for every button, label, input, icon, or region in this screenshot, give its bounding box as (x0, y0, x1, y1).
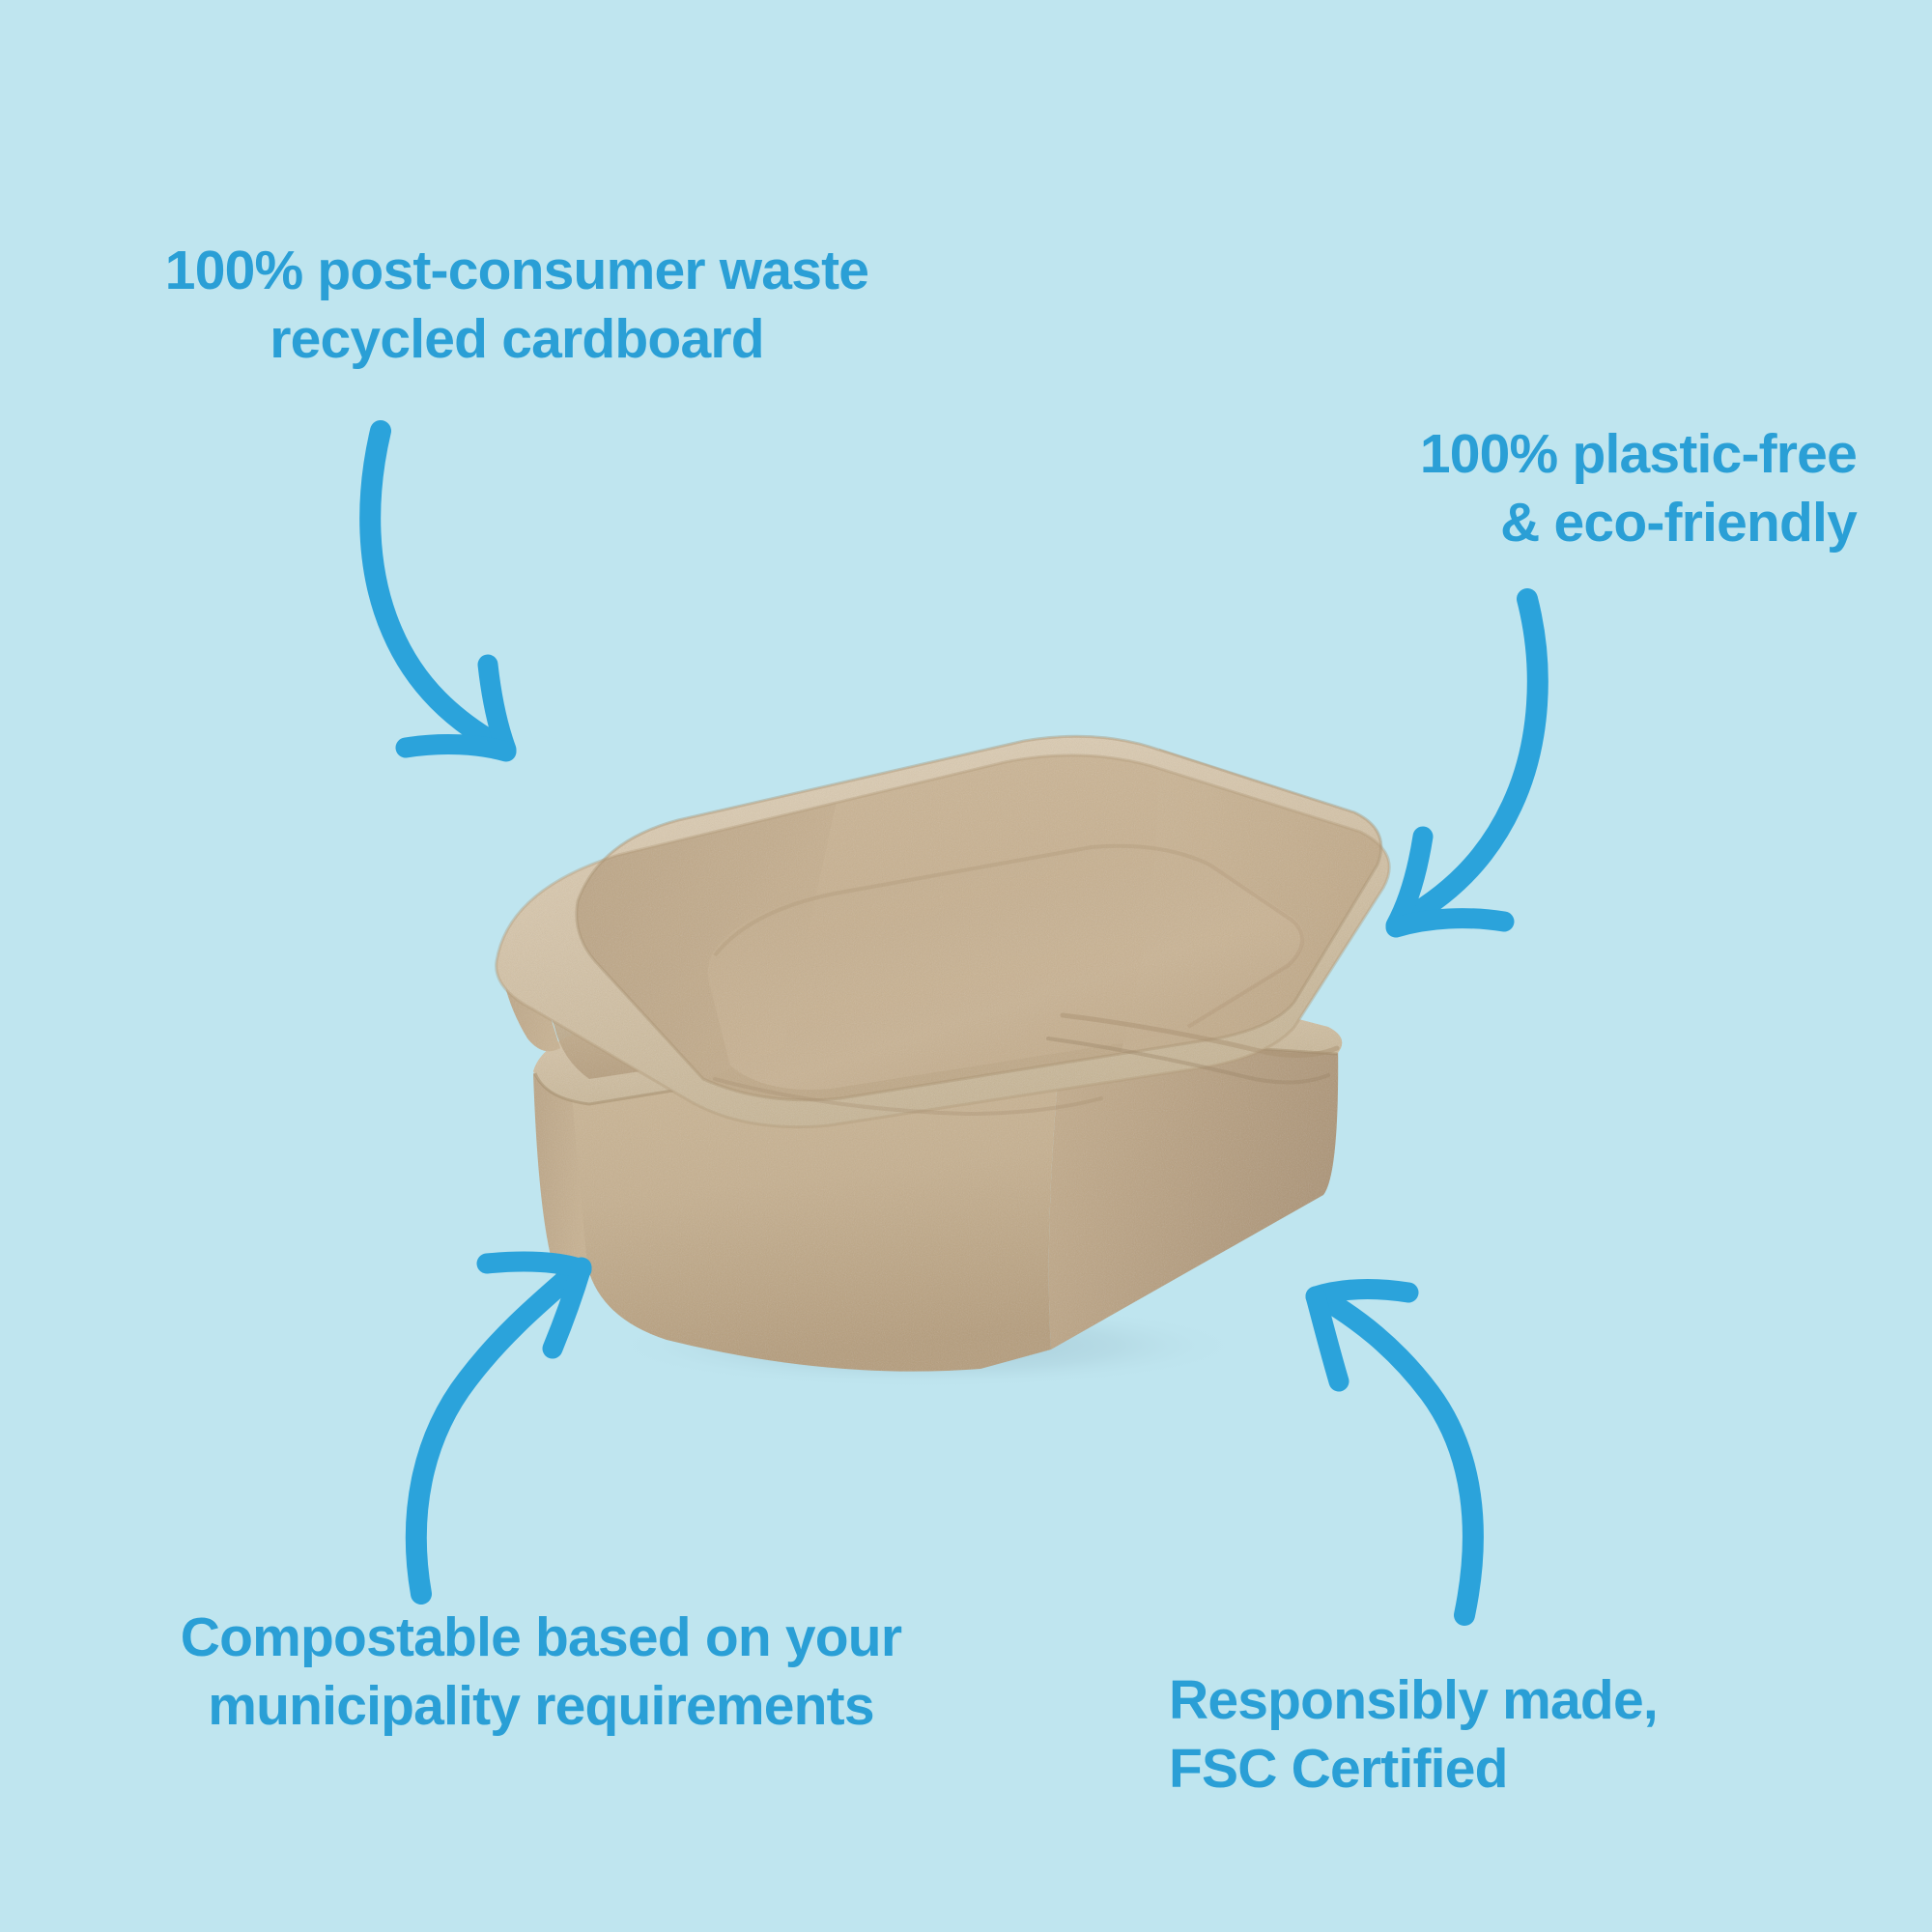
product-infographic: 100% post-consumer waste recycled cardbo… (0, 0, 1932, 1932)
curved-arrow-down-right-icon (336, 413, 626, 771)
callout-compostable: Compostable based on your municipality r… (58, 1604, 1024, 1742)
callout-recycled-cardboard: 100% post-consumer waste recycled cardbo… (68, 237, 966, 375)
curved-arrow-up-left-icon (1254, 1254, 1553, 1631)
callout-plastic-free: 100% plastic-free & eco-friendly (1065, 420, 1857, 558)
curved-arrow-up-right-icon (384, 1235, 684, 1611)
callout-fsc-certified: Responsibly made, FSC Certified (1169, 1666, 1845, 1804)
curved-arrow-down-left-icon (1241, 578, 1560, 954)
